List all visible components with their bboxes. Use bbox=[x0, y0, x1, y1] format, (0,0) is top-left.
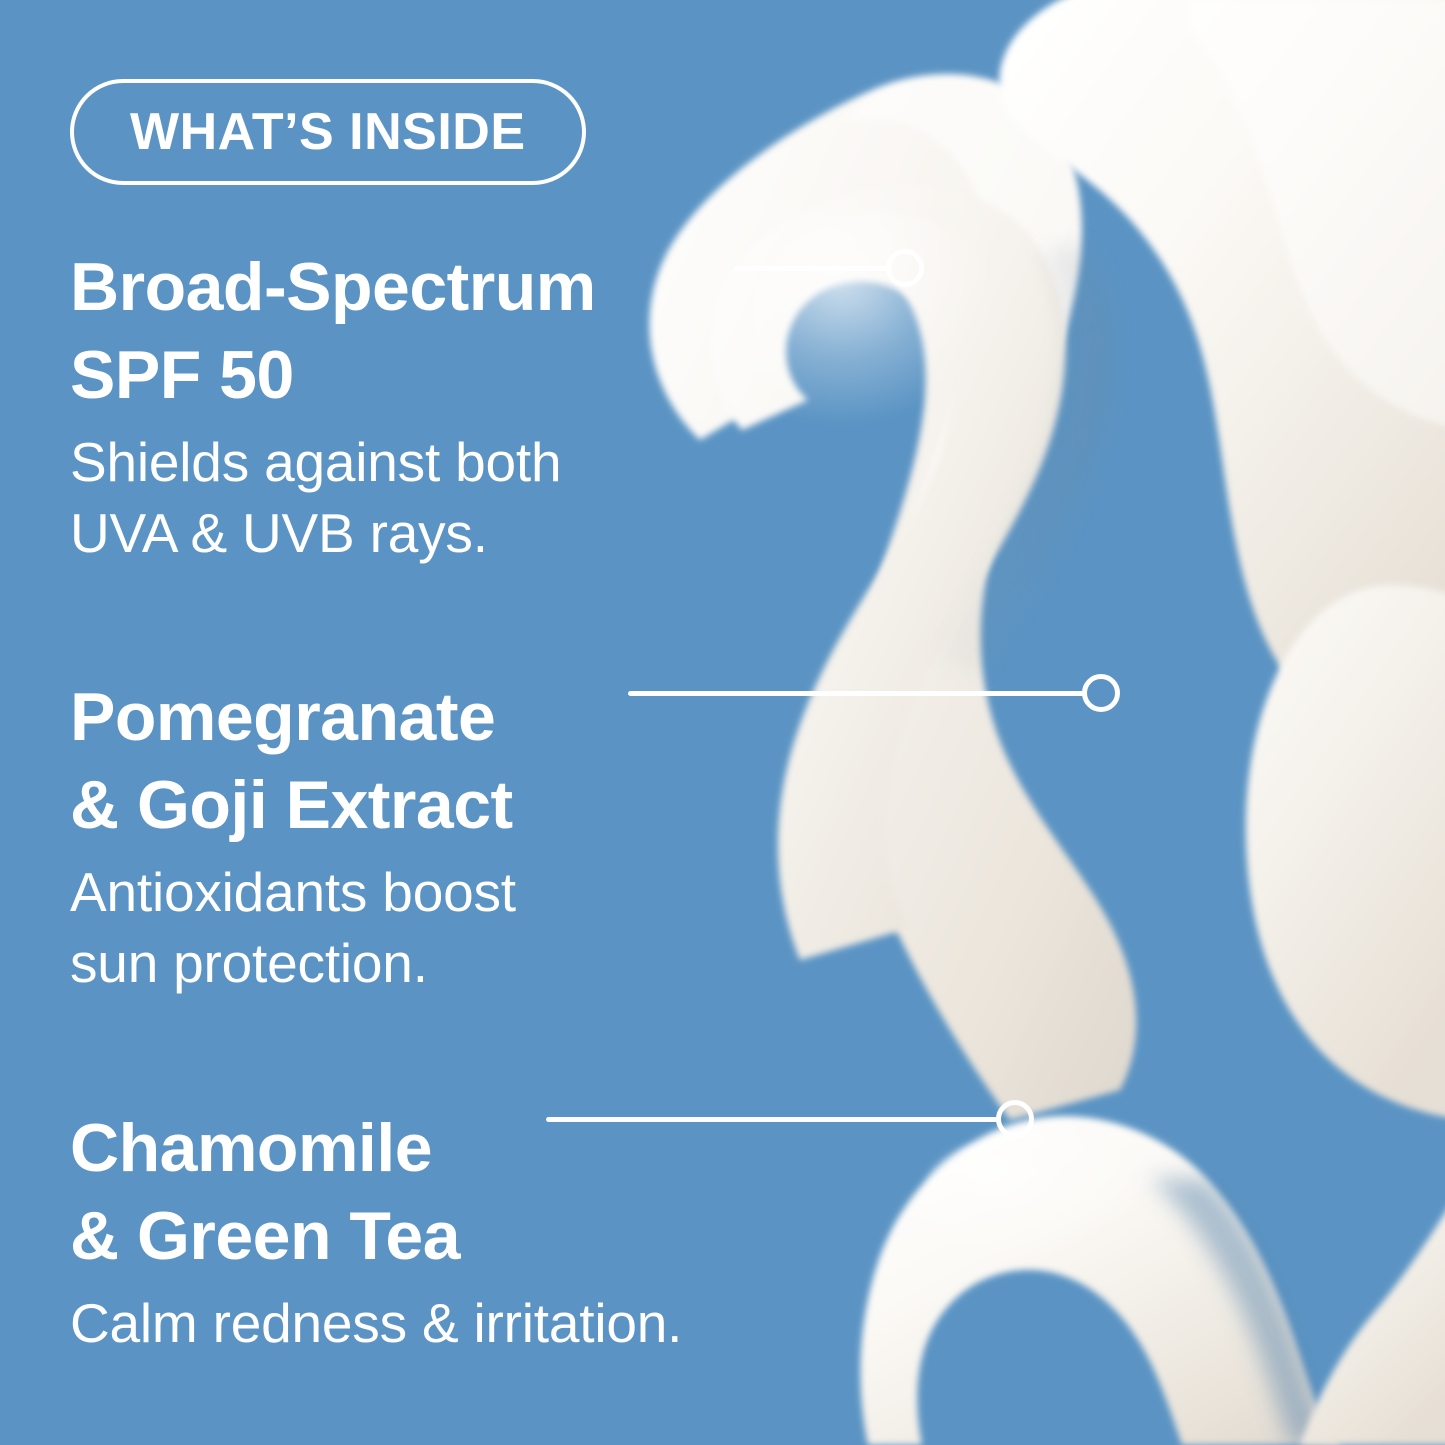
feature-description: Antioxidants boost sun protection. bbox=[70, 857, 910, 999]
feature-title: Chamomile & Green Tea bbox=[70, 1104, 910, 1280]
whats-inside-badge: WHAT’S INSIDE bbox=[70, 79, 586, 185]
feature-block-chamomile: Chamomile & Green Tea Calm redness & irr… bbox=[70, 1104, 910, 1359]
feature-block-spf: Broad-Spectrum SPF 50 Shields against bo… bbox=[70, 243, 910, 569]
badge-label: WHAT’S INSIDE bbox=[130, 106, 526, 158]
callout-ring-icon bbox=[1082, 674, 1120, 712]
product-ingredient-infographic: WHAT’S INSIDE Broad-Spectrum SPF 50 Shie… bbox=[0, 0, 1445, 1445]
feature-description: Calm redness & irritation. bbox=[70, 1288, 910, 1359]
feature-block-pomegranate: Pomegranate & Goji Extract Antioxidants … bbox=[70, 673, 910, 999]
feature-title: Broad-Spectrum SPF 50 bbox=[70, 243, 910, 419]
feature-title: Pomegranate & Goji Extract bbox=[70, 673, 910, 849]
callout-ring-icon bbox=[996, 1100, 1034, 1138]
feature-description: Shields against both UVA & UVB rays. bbox=[70, 427, 910, 569]
